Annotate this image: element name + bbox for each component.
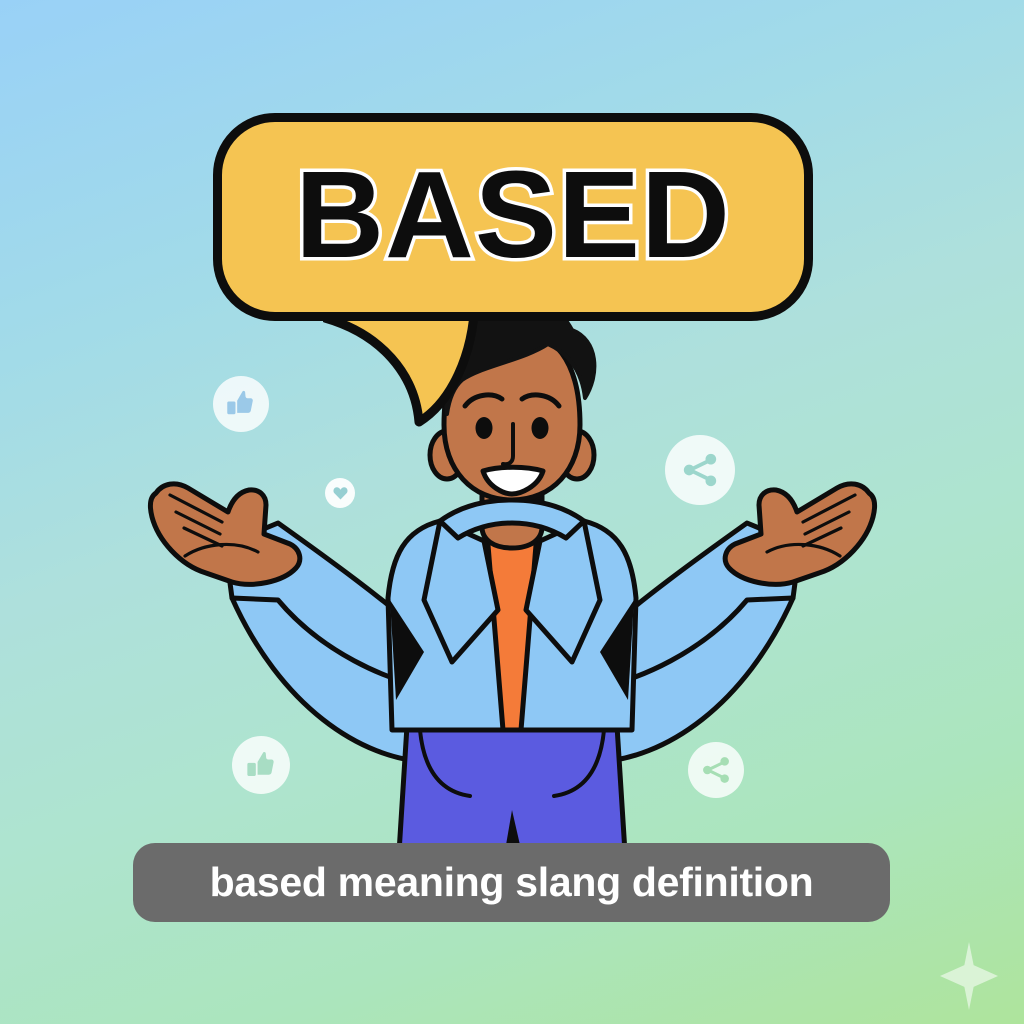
share-icon bbox=[688, 742, 744, 798]
heart-icon bbox=[325, 478, 355, 508]
speech-bubble-body: BASED bbox=[213, 113, 813, 321]
caption-bar: based meaning slang definition bbox=[133, 843, 890, 922]
poster-image: BASED based meaning slang definition bbox=[0, 0, 1024, 1024]
speech-bubble-text: BASED bbox=[295, 154, 731, 277]
caption-text: based meaning slang definition bbox=[210, 859, 814, 906]
speech-bubble: BASED bbox=[213, 113, 813, 423]
thumbs-up-icon bbox=[232, 736, 290, 794]
share-icon bbox=[665, 435, 735, 505]
